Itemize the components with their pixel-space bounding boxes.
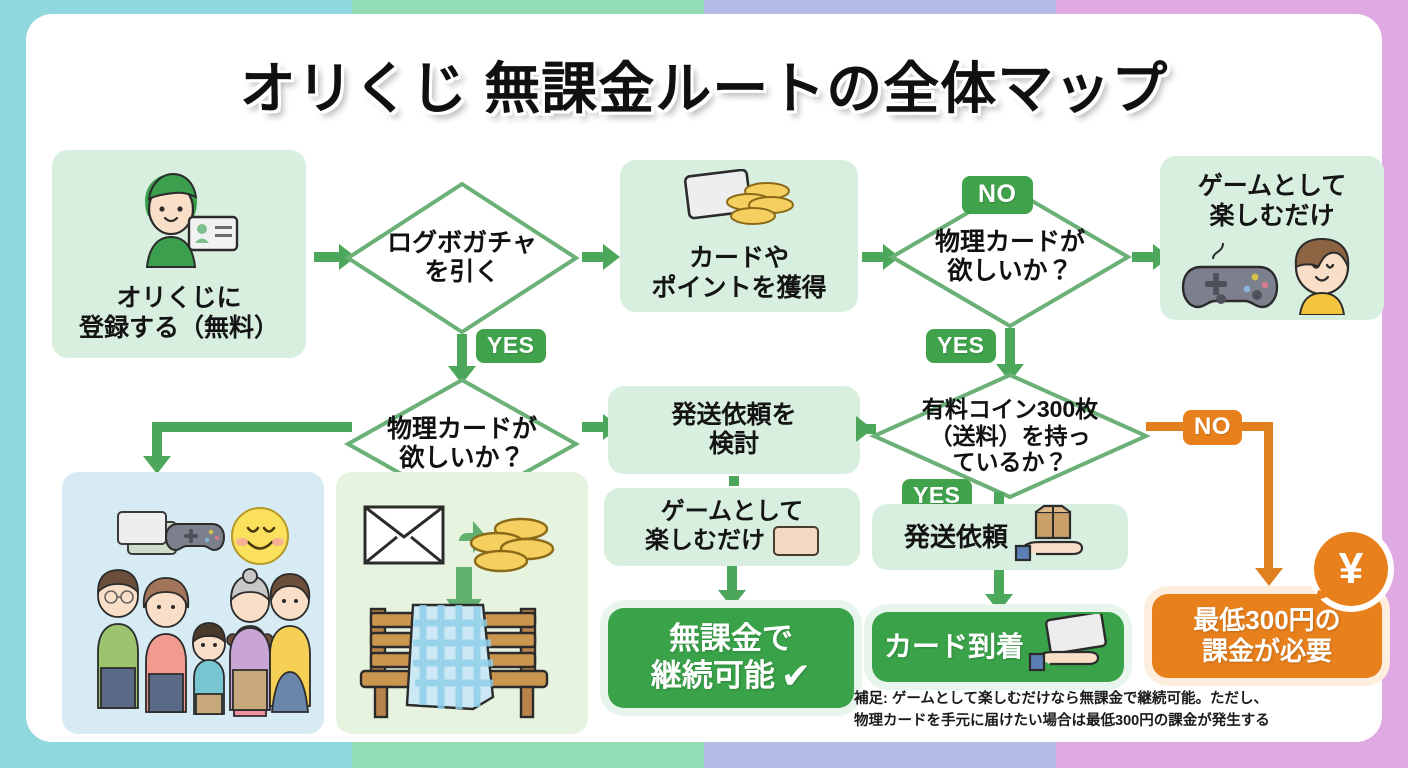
node-family-panel[interactable]	[62, 472, 324, 734]
footnote-line2: 物理カードを手元に届けたい場合は最低300円の課金が発生する	[854, 710, 1374, 732]
badge-no-coins: NO	[1183, 410, 1242, 445]
yen-symbol: ¥	[1339, 544, 1363, 594]
node-consider-shipping[interactable]: 発送依頼を 検討	[608, 386, 860, 474]
node-need-payment-line2: 課金が必要	[1202, 636, 1332, 667]
node-reward-line2: ポイントを獲得	[651, 274, 826, 304]
node-consider-shipping-line2: 検討	[709, 430, 759, 460]
node-enjoy-game-2-line2: 楽しむだけ	[645, 527, 765, 555]
connector-mid-left-vertical	[152, 422, 162, 460]
connector-reward-wantcard	[862, 252, 884, 262]
node-free-continue-line1: 無課金で	[669, 621, 793, 658]
node-need-payment-line1: 最低300円の	[1193, 605, 1340, 636]
arrowhead-consider-coins	[856, 416, 873, 442]
node-ship-request-label: 発送依頼	[904, 522, 1008, 553]
node-card-arrived[interactable]: カード到着	[872, 612, 1124, 682]
arrowhead-ship-arrived	[985, 594, 1013, 612]
arrowhead-coins-no	[1255, 568, 1283, 586]
node-enjoy-game-line2: 楽しむだけ	[1209, 202, 1334, 232]
arrowhead-gacha-reward	[603, 244, 620, 270]
node-free-continue[interactable]: 無課金で 継続可能 ✔	[608, 608, 854, 708]
connector-gacha-yes	[457, 334, 467, 368]
node-need-payment[interactable]: 最低300円の 課金が必要	[1152, 594, 1382, 678]
hand-card-icon	[1028, 614, 1112, 679]
page-title: オリくじ 無課金ルートの全体マップ	[26, 44, 1382, 125]
yen-badge-icon: ¥	[1314, 532, 1388, 606]
connector-wantcard-enjoy	[1132, 252, 1154, 262]
badge-yes-gacha: YES	[476, 329, 546, 363]
person-id-card-icon	[115, 165, 243, 277]
decision-gacha[interactable]: ログボガチャ を引く	[344, 180, 580, 336]
badge-yes-card-top: YES	[926, 329, 996, 363]
connector-consider-enjoy	[729, 476, 739, 486]
small-card-icon	[773, 526, 819, 556]
hand-box-icon	[1014, 504, 1096, 571]
connector-mid-consider	[582, 422, 604, 432]
infographic-frame: オリくじ 無課金ルートの全体マップ	[0, 0, 1408, 768]
node-bench-panel[interactable]	[336, 472, 588, 734]
node-consider-shipping-line1: 発送依頼を	[671, 401, 796, 431]
family-cards-gamepad-smile-icon	[74, 480, 312, 726]
gamepad-girl-icon	[1179, 237, 1365, 323]
infographic-card: オリくじ 無課金ルートの全体マップ	[26, 14, 1382, 742]
node-free-continue-line2: 継続可能	[651, 658, 775, 695]
node-register-line2: 登録する（無料）	[79, 314, 279, 344]
arrowhead-enjoy-free	[718, 590, 746, 608]
connector-mid-left-horizontal	[152, 422, 352, 432]
node-enjoy-game[interactable]: ゲームとして 楽しむだけ	[1160, 156, 1384, 320]
footnote-line1: 補足: ゲームとして楽しむだけなら無課金で継続可能。ただし、	[854, 688, 1374, 710]
node-enjoy-game-2[interactable]: ゲームとして 楽しむだけ	[604, 488, 860, 566]
connector-wantcard-yes	[1005, 328, 1015, 368]
connector-coins-no-vertical	[1264, 422, 1273, 572]
node-register[interactable]: オリくじに 登録する（無料）	[52, 150, 306, 358]
node-card-arrived-label: カード到着	[884, 630, 1024, 663]
envelope-coins-bench-icon	[345, 481, 579, 725]
footnote: 補足: ゲームとして楽しむだけなら無課金で継続可能。ただし、 物理カードを手元に…	[854, 688, 1374, 733]
node-register-line1: オリくじに	[116, 284, 241, 314]
badge-no-card-top: NO	[962, 176, 1033, 214]
connector-gacha-reward	[582, 252, 604, 262]
node-reward-line1: カードや	[689, 244, 789, 274]
check-icon: ✔	[781, 658, 811, 694]
card-coins-icon	[679, 169, 799, 239]
node-ship-request[interactable]: 発送依頼	[872, 504, 1128, 570]
connector-register-gacha	[314, 252, 340, 262]
node-enjoy-game-2-line1: ゲームとして	[661, 498, 804, 526]
node-reward[interactable]: カードや ポイントを獲得	[620, 160, 858, 312]
node-enjoy-game-line1: ゲームとして	[1198, 172, 1347, 202]
